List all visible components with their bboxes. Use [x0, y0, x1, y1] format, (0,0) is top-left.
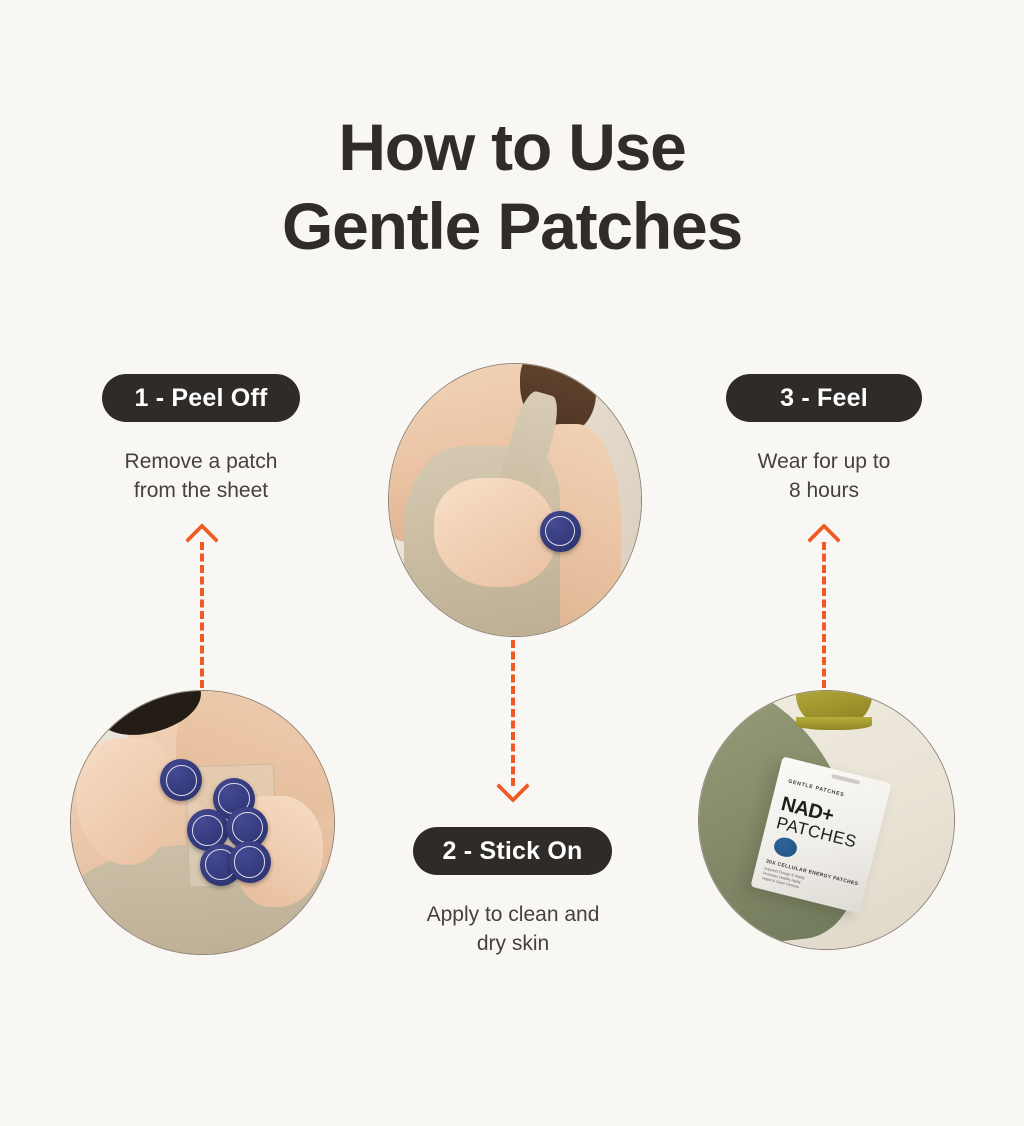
- page-title-line-1: How to Use: [0, 108, 1024, 187]
- hand-applying-patch: [434, 478, 555, 587]
- patch-disc-applied: [540, 511, 580, 552]
- peel-off-scene: [71, 691, 334, 954]
- step-2-description: Apply to clean and dry skin: [388, 900, 638, 958]
- gold-jar-lip: [796, 717, 873, 730]
- stick-on-scene: [389, 364, 641, 636]
- step-3-arrow-up-icon: [811, 528, 837, 688]
- product-pack-scene: GENTLE PATCHES NAD+ PATCHES 30X CELLULAR…: [699, 691, 954, 949]
- step-1-badge: 1 - Peel Off: [102, 374, 300, 422]
- step-3-badge: 3 - Feel: [726, 374, 922, 422]
- step-1-photo-peel-off: [70, 690, 335, 955]
- arrow-stem: [511, 640, 515, 786]
- patch-disc: [229, 841, 271, 883]
- step-2-badge: 2 - Stick On: [413, 827, 612, 875]
- arrow-stem: [200, 542, 204, 688]
- step-3-photo-product-pack: GENTLE PATCHES NAD+ PATCHES 30X CELLULAR…: [698, 690, 955, 950]
- arrow-head-icon: [496, 769, 530, 803]
- page-title-line-2: Gentle Patches: [0, 187, 1024, 266]
- step-3-description: Wear for up to 8 hours: [699, 447, 949, 505]
- arrow-stem: [822, 542, 826, 688]
- pouch-hang-notch: [831, 774, 860, 785]
- page-title: How to Use Gentle Patches: [0, 108, 1024, 266]
- step-1-arrow-up-icon: [189, 528, 215, 688]
- left-hand: [76, 738, 171, 864]
- pouch-patch-graphic: [773, 836, 799, 860]
- infographic-page: How to Use Gentle Patches 1 - Peel Off R…: [0, 0, 1024, 1126]
- step-2-photo-stick-on: [388, 363, 642, 637]
- step-1-description: Remove a patch from the sheet: [76, 447, 326, 505]
- step-2-arrow-down-icon: [500, 640, 526, 800]
